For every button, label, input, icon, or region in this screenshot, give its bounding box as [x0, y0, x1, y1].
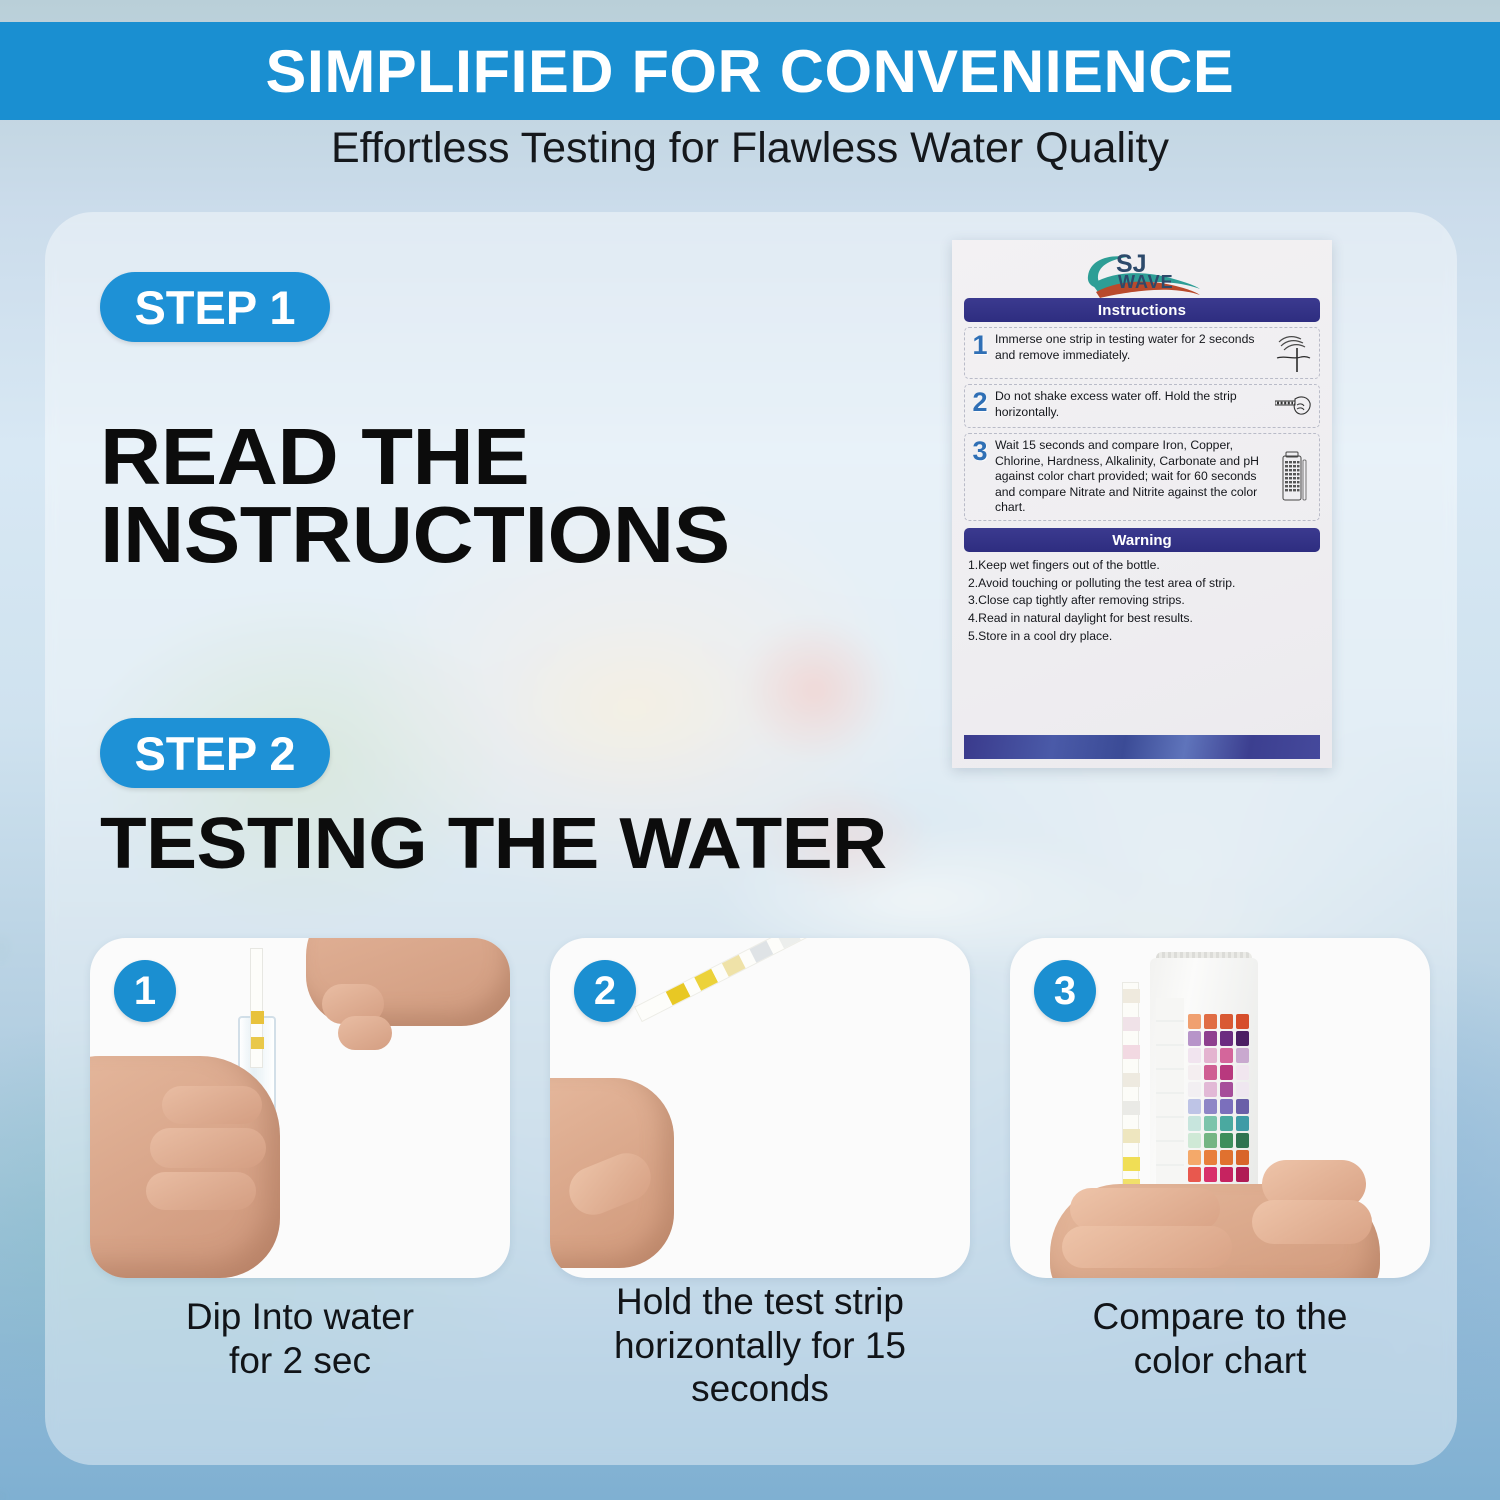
instruction-item-2: 2 Do not shake excess water off. Hold th…: [964, 384, 1320, 428]
finger: [162, 1086, 262, 1124]
photo-card-compare: 3: [1010, 938, 1430, 1278]
hold-strip-horizontal-icon: [1273, 389, 1313, 423]
photo-card-hold: 2: [550, 938, 970, 1278]
step-1-heading-line-1: READ THE: [100, 418, 730, 496]
instruction-number-3: 3: [969, 438, 991, 465]
instruction-text-3: Wait 15 seconds and compare Iron, Copper…: [995, 438, 1269, 516]
color-chart-column: [1220, 1014, 1233, 1182]
used-test-strip: [1122, 982, 1139, 1192]
warning-item: 4.Read in natural daylight for best resu…: [968, 610, 1318, 628]
warning-heading: Warning: [964, 528, 1320, 552]
svg-text:WAVE: WAVE: [1118, 272, 1174, 292]
instructions-heading: Instructions: [964, 298, 1320, 322]
step-1-heading: READ THE INSTRUCTIONS: [100, 418, 730, 573]
step-1-badge: STEP 1: [100, 272, 330, 342]
header-banner: SIMPLIFIED FOR CONVENIENCE: [0, 22, 1500, 120]
photo-step-number-1: 1: [114, 960, 176, 1022]
instruction-number-1: 1: [969, 332, 991, 359]
finger: [150, 1128, 266, 1168]
warning-item: 5.Store in a cool dry place.: [968, 628, 1318, 646]
photo-card-row: 1 2: [0, 938, 1500, 1278]
photo-step-number-3: 3: [1034, 960, 1096, 1022]
finger: [1252, 1200, 1372, 1244]
test-strip-diagonal: [634, 938, 918, 1022]
instruction-number-2: 2: [969, 389, 991, 416]
sj-wave-logo: SJ WAVE: [952, 240, 1332, 296]
color-chart-column: [1188, 1014, 1201, 1182]
finger: [1062, 1226, 1232, 1268]
strip-pad: [251, 1011, 264, 1024]
color-chart-column: [1236, 1014, 1249, 1182]
instruction-text-2: Do not shake excess water off. Hold the …: [995, 389, 1269, 423]
sj-wave-logo-icon: SJ WAVE: [1082, 246, 1202, 298]
warning-item: 2.Avoid touching or polluting the test a…: [968, 575, 1318, 593]
instruction-text-1: Immerse one strip in testing water for 2…: [995, 332, 1269, 374]
photo-caption-3: Compare to thecolor chart: [1010, 1295, 1430, 1382]
warning-item: 1.Keep wet fingers out of the bottle.: [968, 557, 1318, 575]
instruction-item-1: 1 Immerse one strip in testing water for…: [964, 327, 1320, 379]
finger: [1070, 1188, 1220, 1230]
photo-caption-2: Hold the test striphorizontally for 15se…: [550, 1280, 970, 1411]
color-chart-column: [1204, 1014, 1217, 1182]
photo-caption-1: Dip Into waterfor 2 sec: [90, 1295, 510, 1382]
color-chart-bottle-icon: [1273, 438, 1313, 516]
step-2-badge: STEP 2: [100, 718, 330, 788]
instruction-item-3: 3 Wait 15 seconds and compare Iron, Copp…: [964, 433, 1320, 521]
photo-card-dip: 1: [90, 938, 510, 1278]
finger: [338, 1016, 392, 1050]
step-2-heading: TESTING THE WATER: [100, 810, 887, 880]
photo-step-number-2: 2: [574, 960, 636, 1022]
instruction-card: SJ WAVE Instructions 1 Immerse one strip…: [952, 240, 1332, 768]
page-subtitle: Effortless Testing for Flawless Water Qu…: [0, 124, 1500, 173]
strip-pad: [251, 1037, 264, 1049]
page-title: SIMPLIFIED FOR CONVENIENCE: [266, 37, 1235, 106]
immerse-strip-icon: [1273, 332, 1313, 374]
test-strip: [250, 948, 263, 1068]
step-1-heading-line-2: INSTRUCTIONS: [100, 496, 730, 574]
finger: [146, 1172, 256, 1210]
instruction-card-footer-bar: [964, 735, 1320, 759]
warning-list: 1.Keep wet fingers out of the bottle. 2.…: [968, 557, 1318, 645]
test-strip-bottle: [1150, 958, 1258, 1218]
warning-item: 3.Close cap tightly after removing strip…: [968, 592, 1318, 610]
